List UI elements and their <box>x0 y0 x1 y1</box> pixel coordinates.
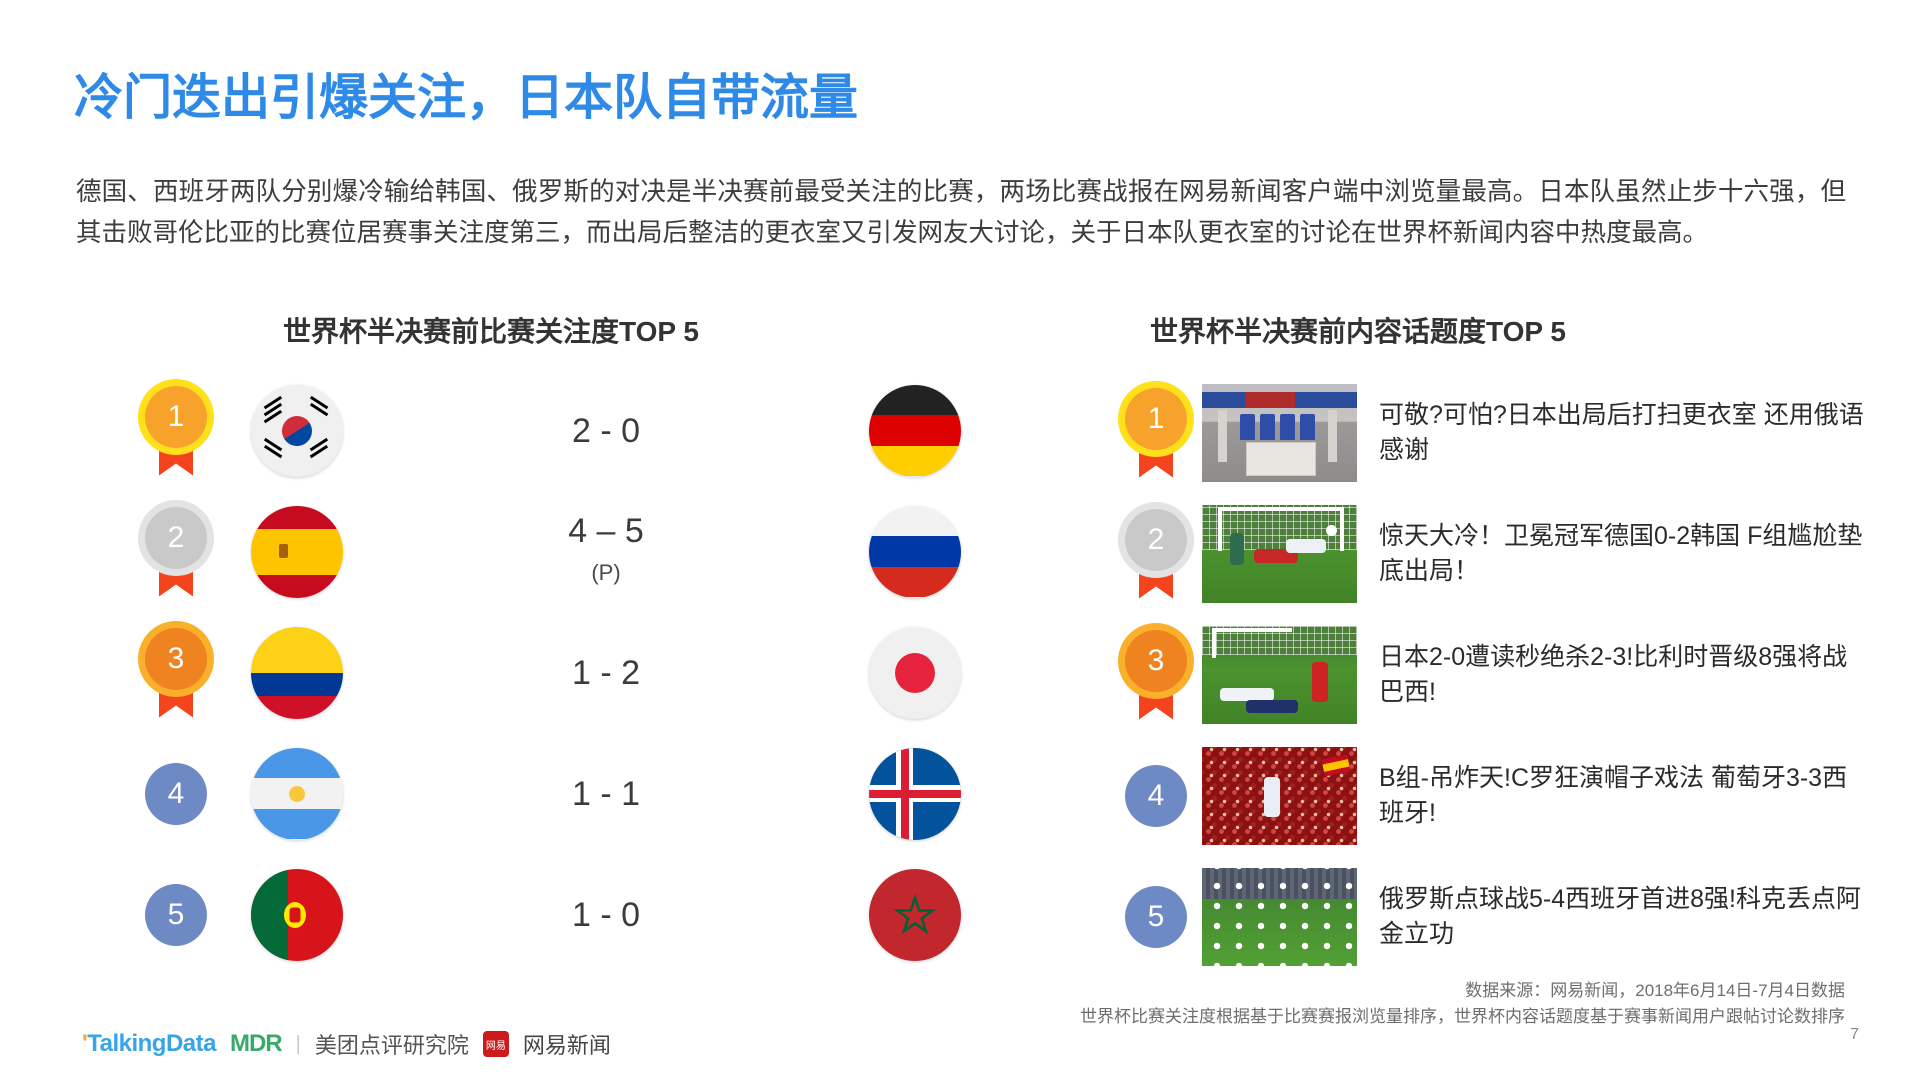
thumbnail-locker-room[interactable] <box>1202 384 1357 482</box>
rank-number: 2 <box>1125 509 1187 571</box>
thumbnail-goal-scramble[interactable] <box>1202 505 1357 603</box>
away-flag-cell: ★ <box>850 869 980 961</box>
home-flag-cell <box>232 869 362 961</box>
rank-number: 1 <box>145 386 207 448</box>
medal-bronze-icon: 3 <box>145 628 207 718</box>
thumbnail-celebration[interactable] <box>1202 868 1357 966</box>
score-text: 1 - 2 <box>572 654 640 692</box>
flag-japan-icon <box>869 627 961 719</box>
right-section-heading: 世界杯半决赛前内容话题度TOP 5 <box>1150 310 1566 350</box>
list-item[interactable]: 1 可敬?可怕?日本出局后打扫更衣室 还用俄语感谢 <box>1110 372 1870 493</box>
medal-gold-icon: 1 <box>145 386 207 476</box>
match-row[interactable]: 4 1 - 1 <box>120 733 980 854</box>
match-row[interactable]: 5 1 - 0 ★ <box>120 854 980 975</box>
away-flag-cell <box>850 748 980 840</box>
netease-news-logo: 网易新闻 <box>523 1028 611 1060</box>
rank-cell: 5 <box>120 884 232 946</box>
away-flag-cell <box>850 627 980 719</box>
logo-divider: | <box>296 1033 301 1056</box>
rank-cell: 1 <box>1110 388 1202 478</box>
match-row[interactable]: 1 2 - 0 <box>120 370 980 491</box>
page-number: 7 <box>1850 1026 1859 1044</box>
rank-number: 1 <box>1125 388 1187 450</box>
rank-number: 4 <box>1125 765 1187 827</box>
rank-badge-5: 5 <box>1125 886 1187 948</box>
medal-silver-icon: 2 <box>1125 509 1187 599</box>
rank-number: 3 <box>1125 630 1187 692</box>
source-note: 数据来源：网易新闻，2018年6月14日-7月4日数据 世界杯比赛关注度根据基于… <box>1080 978 1845 1030</box>
rank-badge-4: 4 <box>145 763 207 825</box>
match-row[interactable]: 3 1 - 2 <box>120 612 980 733</box>
page-title: 冷门迭出引爆关注，日本队自带流量 <box>74 58 858 129</box>
topic-title: B组-吊炸天!C罗狂演帽子戏法 葡萄牙3-3西班牙! <box>1379 761 1870 831</box>
rank-number: 5 <box>145 884 207 946</box>
flag-morocco-icon: ★ <box>869 869 961 961</box>
match-score: 1 - 1 <box>362 774 850 814</box>
rank-cell: 2 <box>120 507 232 597</box>
medal-silver-icon: 2 <box>145 507 207 597</box>
home-flag-cell <box>232 748 362 840</box>
match-score: 1 - 2 <box>362 653 850 693</box>
rank-number: 4 <box>145 763 207 825</box>
taeguk-symbol <box>276 410 317 451</box>
rank-number: 5 <box>1125 886 1187 948</box>
flag-iceland-icon <box>869 748 961 840</box>
source-line-1: 数据来源：网易新闻，2018年6月14日-7月4日数据 <box>1080 978 1845 1004</box>
rank-cell: 4 <box>120 763 232 825</box>
sun-of-may <box>289 786 305 802</box>
flag-south-korea-icon <box>251 385 343 477</box>
sun-disc <box>895 653 935 693</box>
topic-title: 惊天大冷！卫冕冠军德国0-2韩国 F组尴尬垫底出局！ <box>1379 519 1870 589</box>
mdr-logo: MDR <box>230 1030 282 1058</box>
rank-cell: 5 <box>1110 886 1202 948</box>
source-line-2: 世界杯比赛关注度根据基于比赛赛报浏览量排序，世界杯内容话题度基于赛事新闻用户跟帖… <box>1080 1004 1845 1030</box>
flag-germany-icon <box>869 385 961 477</box>
list-item[interactable]: 2 惊天大冷！卫冕冠军德国0-2韩国 F组尴尬垫底出局！ <box>1110 493 1870 614</box>
medal-bronze-icon: 3 <box>1125 630 1187 720</box>
away-flag-cell <box>850 506 980 598</box>
home-flag-cell <box>232 506 362 598</box>
score-text: 1 - 1 <box>572 775 640 813</box>
match-ranking-list: 1 2 - 0 <box>120 370 980 975</box>
flag-russia-icon <box>869 506 961 598</box>
thumbnail-crowd[interactable] <box>1202 747 1357 845</box>
home-flag-cell <box>232 627 362 719</box>
flag-argentina-icon <box>251 748 343 840</box>
left-section-heading: 世界杯半决赛前比赛关注度TOP 5 <box>283 310 699 350</box>
intro-paragraph: 德国、西班牙两队分别爆冷输给韩国、俄罗斯的对决是半决赛前最受关注的比赛，两场比赛… <box>76 172 1846 254</box>
score-text: 1 - 0 <box>572 896 640 934</box>
match-row[interactable]: 2 4 – 5 (P) <box>120 491 980 612</box>
rank-number: 2 <box>145 507 207 569</box>
pentagram-star: ★ <box>894 892 935 938</box>
netease-badge-icon: 网易 <box>483 1031 509 1057</box>
topic-title: 俄罗斯点球战5-4西班牙首进8强!科克丢点阿金立功 <box>1379 882 1870 952</box>
flag-spain-icon <box>251 506 343 598</box>
home-flag-cell <box>232 385 362 477</box>
topic-title: 可敬?可怕?日本出局后打扫更衣室 还用俄语感谢 <box>1379 398 1870 468</box>
rank-cell: 4 <box>1110 765 1202 827</box>
list-item[interactable]: 3 日本2-0遭读秒绝杀2-3!比利时晋级8强将战巴西! <box>1110 614 1870 735</box>
score-text: 4 – 5 <box>568 512 644 550</box>
rank-cell: 2 <box>1110 509 1202 599</box>
away-flag-cell <box>850 385 980 477</box>
score-text: 2 - 0 <box>572 412 640 450</box>
slide-root: 冷门迭出引爆关注，日本队自带流量 德国、西班牙两队分别爆冷输给韩国、俄罗斯的对决… <box>0 0 1921 1080</box>
rank-badge-5: 5 <box>145 884 207 946</box>
rank-cell: 3 <box>1110 630 1202 720</box>
meituan-research-logo: 美团点评研究院 <box>315 1028 469 1060</box>
list-item[interactable]: 4 B组-吊炸天!C罗狂演帽子戏法 葡萄牙3-3西班牙! <box>1110 735 1870 856</box>
match-score: 1 - 0 <box>362 895 850 935</box>
medal-gold-icon: 1 <box>1125 388 1187 478</box>
rank-badge-4: 4 <box>1125 765 1187 827</box>
rank-cell: 1 <box>120 386 232 476</box>
flag-colombia-icon <box>251 627 343 719</box>
flag-portugal-icon <box>251 869 343 961</box>
match-score: 2 - 0 <box>362 411 850 451</box>
list-item[interactable]: 5 俄罗斯点球战5-4西班牙首进8强!科克丢点阿金立功 <box>1110 856 1870 977</box>
talkingdata-logo: 'TalkingData <box>82 1030 216 1058</box>
thumbnail-players-on-ground[interactable] <box>1202 626 1357 724</box>
portugal-armillary <box>284 902 306 928</box>
coat-of-arms <box>279 544 288 558</box>
logo-bar: 'TalkingData MDR | 美团点评研究院 网易 网易新闻 <box>82 1028 611 1060</box>
rank-number: 3 <box>145 628 207 690</box>
topic-ranking-list: 1 可敬?可怕?日本出局后打扫更衣室 还用俄语感谢 2 <box>1110 372 1870 977</box>
match-score: 4 – 5 (P) <box>362 511 850 593</box>
topic-title: 日本2-0遭读秒绝杀2-3!比利时晋级8强将战巴西! <box>1379 640 1870 710</box>
rank-cell: 3 <box>120 628 232 718</box>
penalty-note: (P) <box>362 553 850 593</box>
